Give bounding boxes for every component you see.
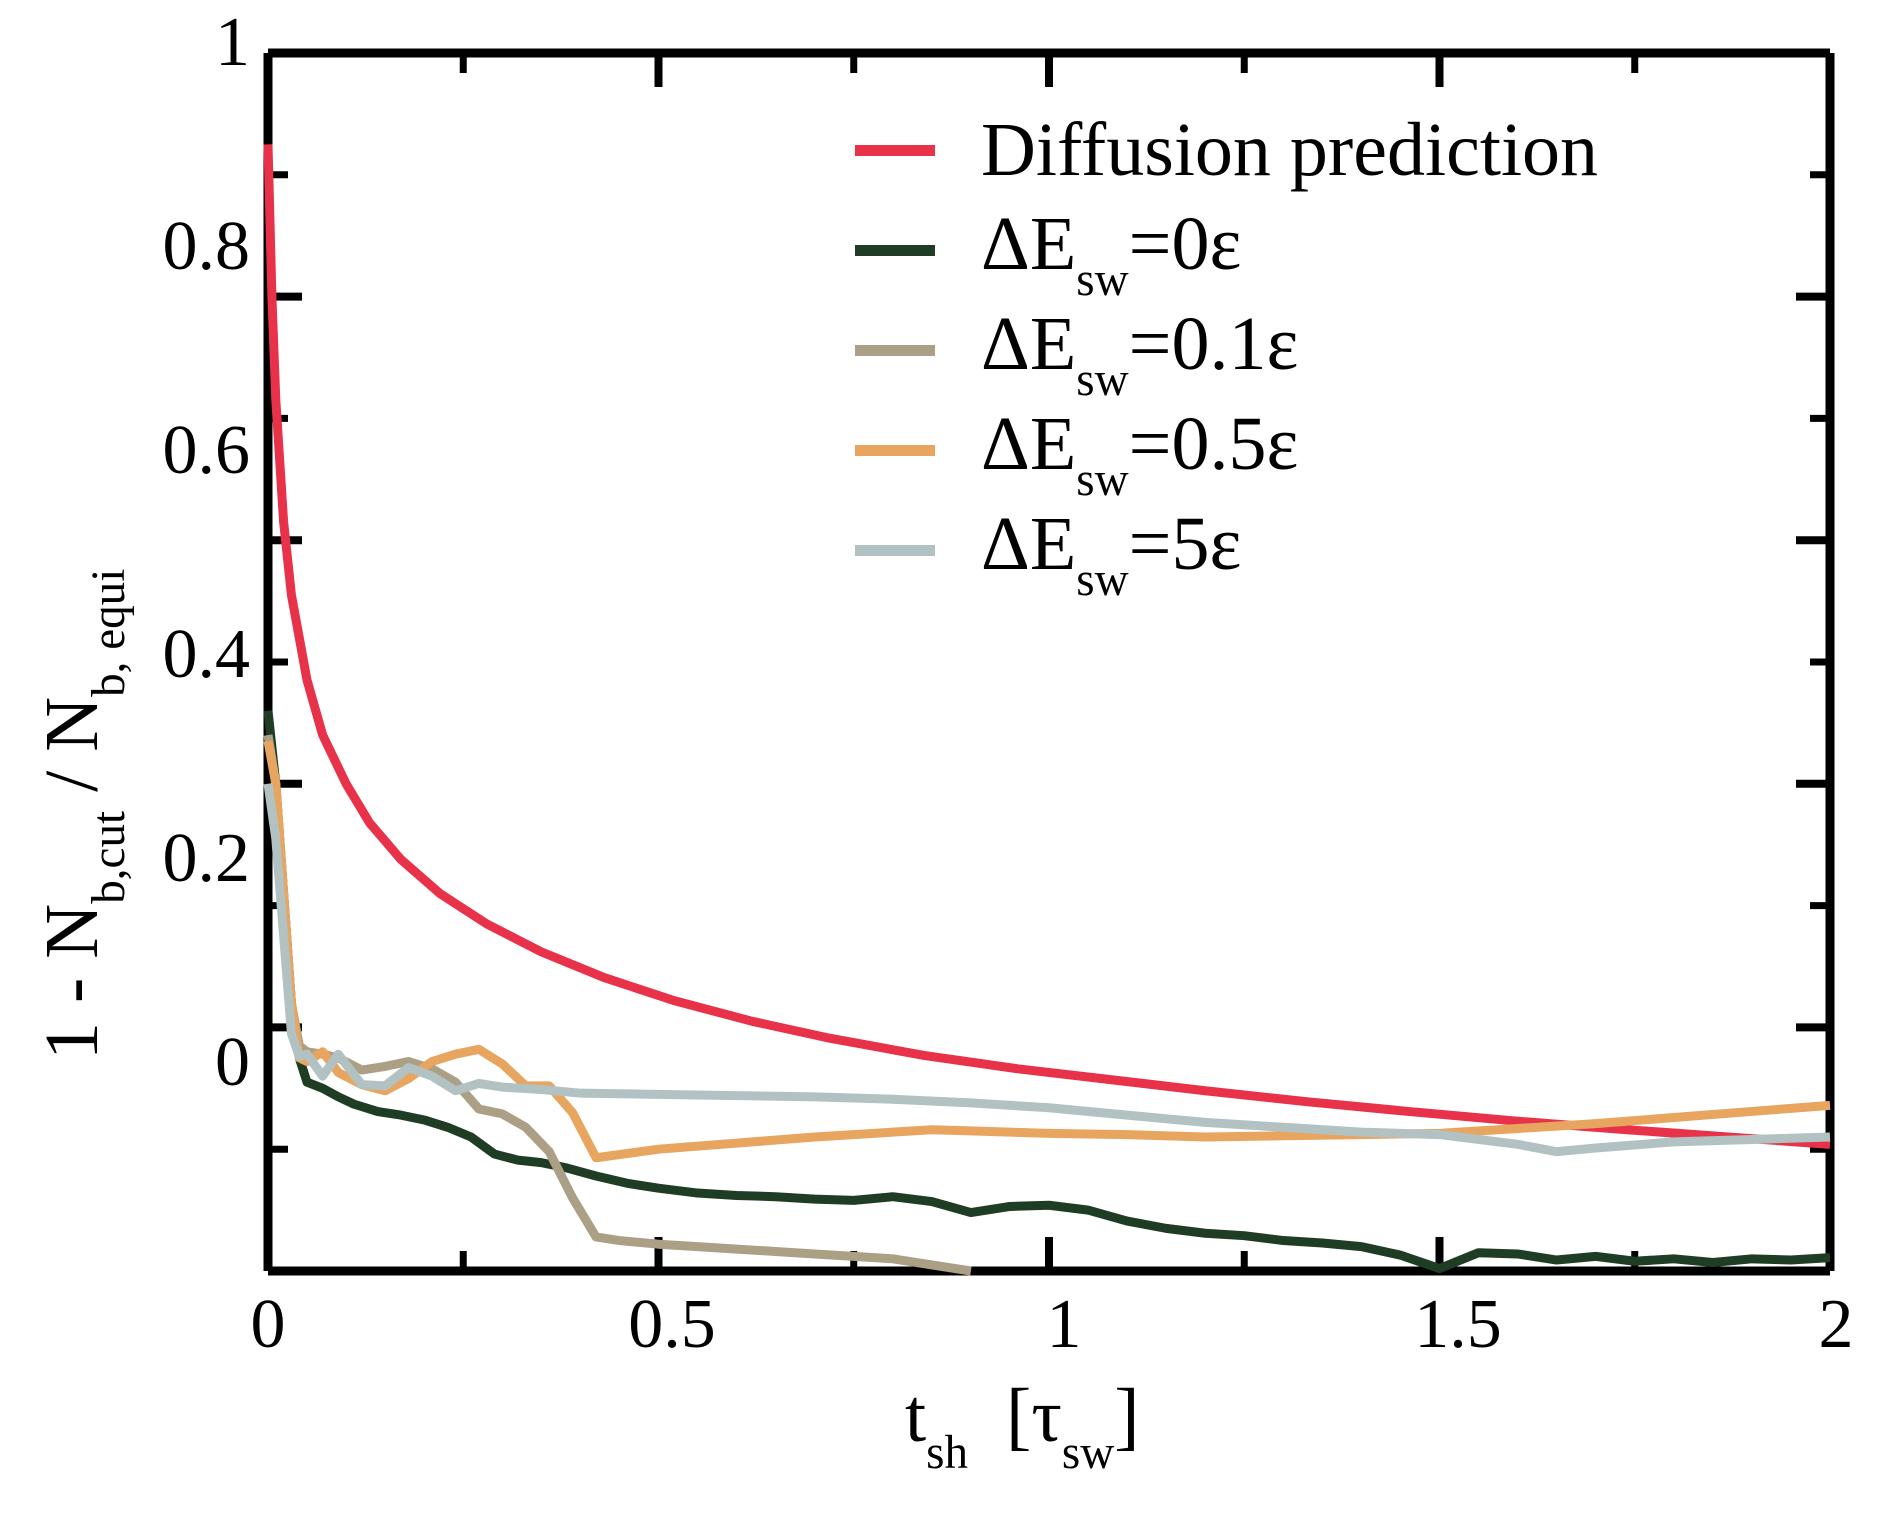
- legend-label-de-sw-0p5-suffix: =0.5ε: [1129, 402, 1299, 486]
- legend-label-de-sw-0: ΔEsw=0ε: [981, 206, 1241, 294]
- series-line-de-sw-0: [268, 711, 1830, 1269]
- y-axis-title-part2: / N: [30, 697, 114, 811]
- legend-label-de-sw-0p5-main: ΔE: [981, 402, 1076, 486]
- y-tick-label-0: 0: [150, 1028, 250, 1098]
- legend-item-de-sw-0p5[interactable]: ΔEsw=0.5ε: [855, 400, 1595, 500]
- legend-swatch-de-sw-5: [855, 545, 935, 556]
- legend-label-de-sw-0-main: ΔE: [981, 202, 1076, 286]
- y-tick-label-1: 1: [150, 8, 250, 78]
- x-axis-title-sub: sh: [926, 1427, 968, 1479]
- legend-item-de-sw-0[interactable]: ΔEsw=0ε: [855, 200, 1595, 300]
- y-tick-label-0.8: 0.8: [110, 212, 250, 282]
- legend-label-de-sw-5-sub: sw: [1076, 554, 1128, 606]
- x-tick-label-2: 2: [1790, 1290, 1880, 1360]
- legend-label-de-sw-0p1-suffix: =0.1ε: [1129, 302, 1299, 386]
- x-tick-label-1.5: 1.5: [1378, 1290, 1538, 1360]
- legend-swatch-de-sw-0p5: [855, 445, 935, 456]
- x-axis-title-main: t: [905, 1374, 926, 1458]
- legend-label-de-sw-5: ΔEsw=5ε: [981, 506, 1241, 594]
- x-axis-unit-sub: sw: [1062, 1427, 1114, 1479]
- legend-label-de-sw-5-main: ΔE: [981, 502, 1076, 586]
- legend-swatch-de-sw-0p1: [855, 345, 935, 356]
- legend-label-de-sw-0-suffix: =0ε: [1129, 202, 1242, 286]
- legend-label-de-sw-0p5: ΔEsw=0.5ε: [981, 406, 1298, 494]
- x-axis-unit-open: [: [1006, 1374, 1031, 1458]
- legend-label-de-sw-5-suffix: =5ε: [1129, 502, 1242, 586]
- legend-swatch-diffusion-prediction: [855, 145, 935, 156]
- legend-item-diffusion-prediction[interactable]: Diffusion prediction: [855, 100, 1595, 200]
- legend-label-de-sw-0p1: ΔEsw=0.1ε: [981, 306, 1298, 394]
- legend-swatch-de-sw-0: [855, 245, 935, 256]
- x-tick-label-0: 0: [222, 1290, 314, 1360]
- x-axis-title-spacer: [968, 1374, 1006, 1458]
- legend-label-de-sw-0p1-main: ΔE: [981, 302, 1076, 386]
- y-tick-label-0.6: 0.6: [110, 416, 250, 486]
- legend-label-de-sw-0-sub: sw: [1076, 254, 1128, 306]
- y-axis-title: 1 - Nb,cut / Nb, equi: [34, 569, 122, 1060]
- legend: Diffusion prediction ΔEsw=0ε ΔEsw=0.1ε Δ…: [855, 100, 1595, 600]
- legend-item-de-sw-0p1[interactable]: ΔEsw=0.1ε: [855, 300, 1595, 400]
- x-tick-label-0.5: 0.5: [592, 1290, 752, 1360]
- x-axis-unit-main: τ: [1031, 1374, 1062, 1458]
- legend-item-de-sw-5[interactable]: ΔEsw=5ε: [855, 500, 1595, 600]
- series-line-de-sw-5: [268, 784, 1830, 1152]
- legend-label-de-sw-0p1-sub: sw: [1076, 354, 1128, 406]
- x-axis-title: tsh [τsw]: [905, 1378, 1140, 1466]
- y-axis-title-part1: 1 - N: [30, 904, 114, 1060]
- figure-container: 1 0.8 0.6 0.4 0.2 0 0 0.5 1 1.5 2 1 - Nb…: [0, 0, 1880, 1513]
- y-axis-title-sub1: b,cut: [83, 811, 135, 904]
- series-line-de-sw-0-5: [268, 741, 1830, 1158]
- legend-label-diffusion-prediction: Diffusion prediction: [981, 112, 1598, 188]
- x-tick-label-1: 1: [1018, 1290, 1110, 1360]
- y-axis-title-sub2: b, equi: [83, 569, 135, 697]
- x-axis-unit-close: ]: [1114, 1374, 1139, 1458]
- series-line-de-sw-0-1: [268, 735, 971, 1271]
- legend-label-de-sw-0p5-sub: sw: [1076, 454, 1128, 506]
